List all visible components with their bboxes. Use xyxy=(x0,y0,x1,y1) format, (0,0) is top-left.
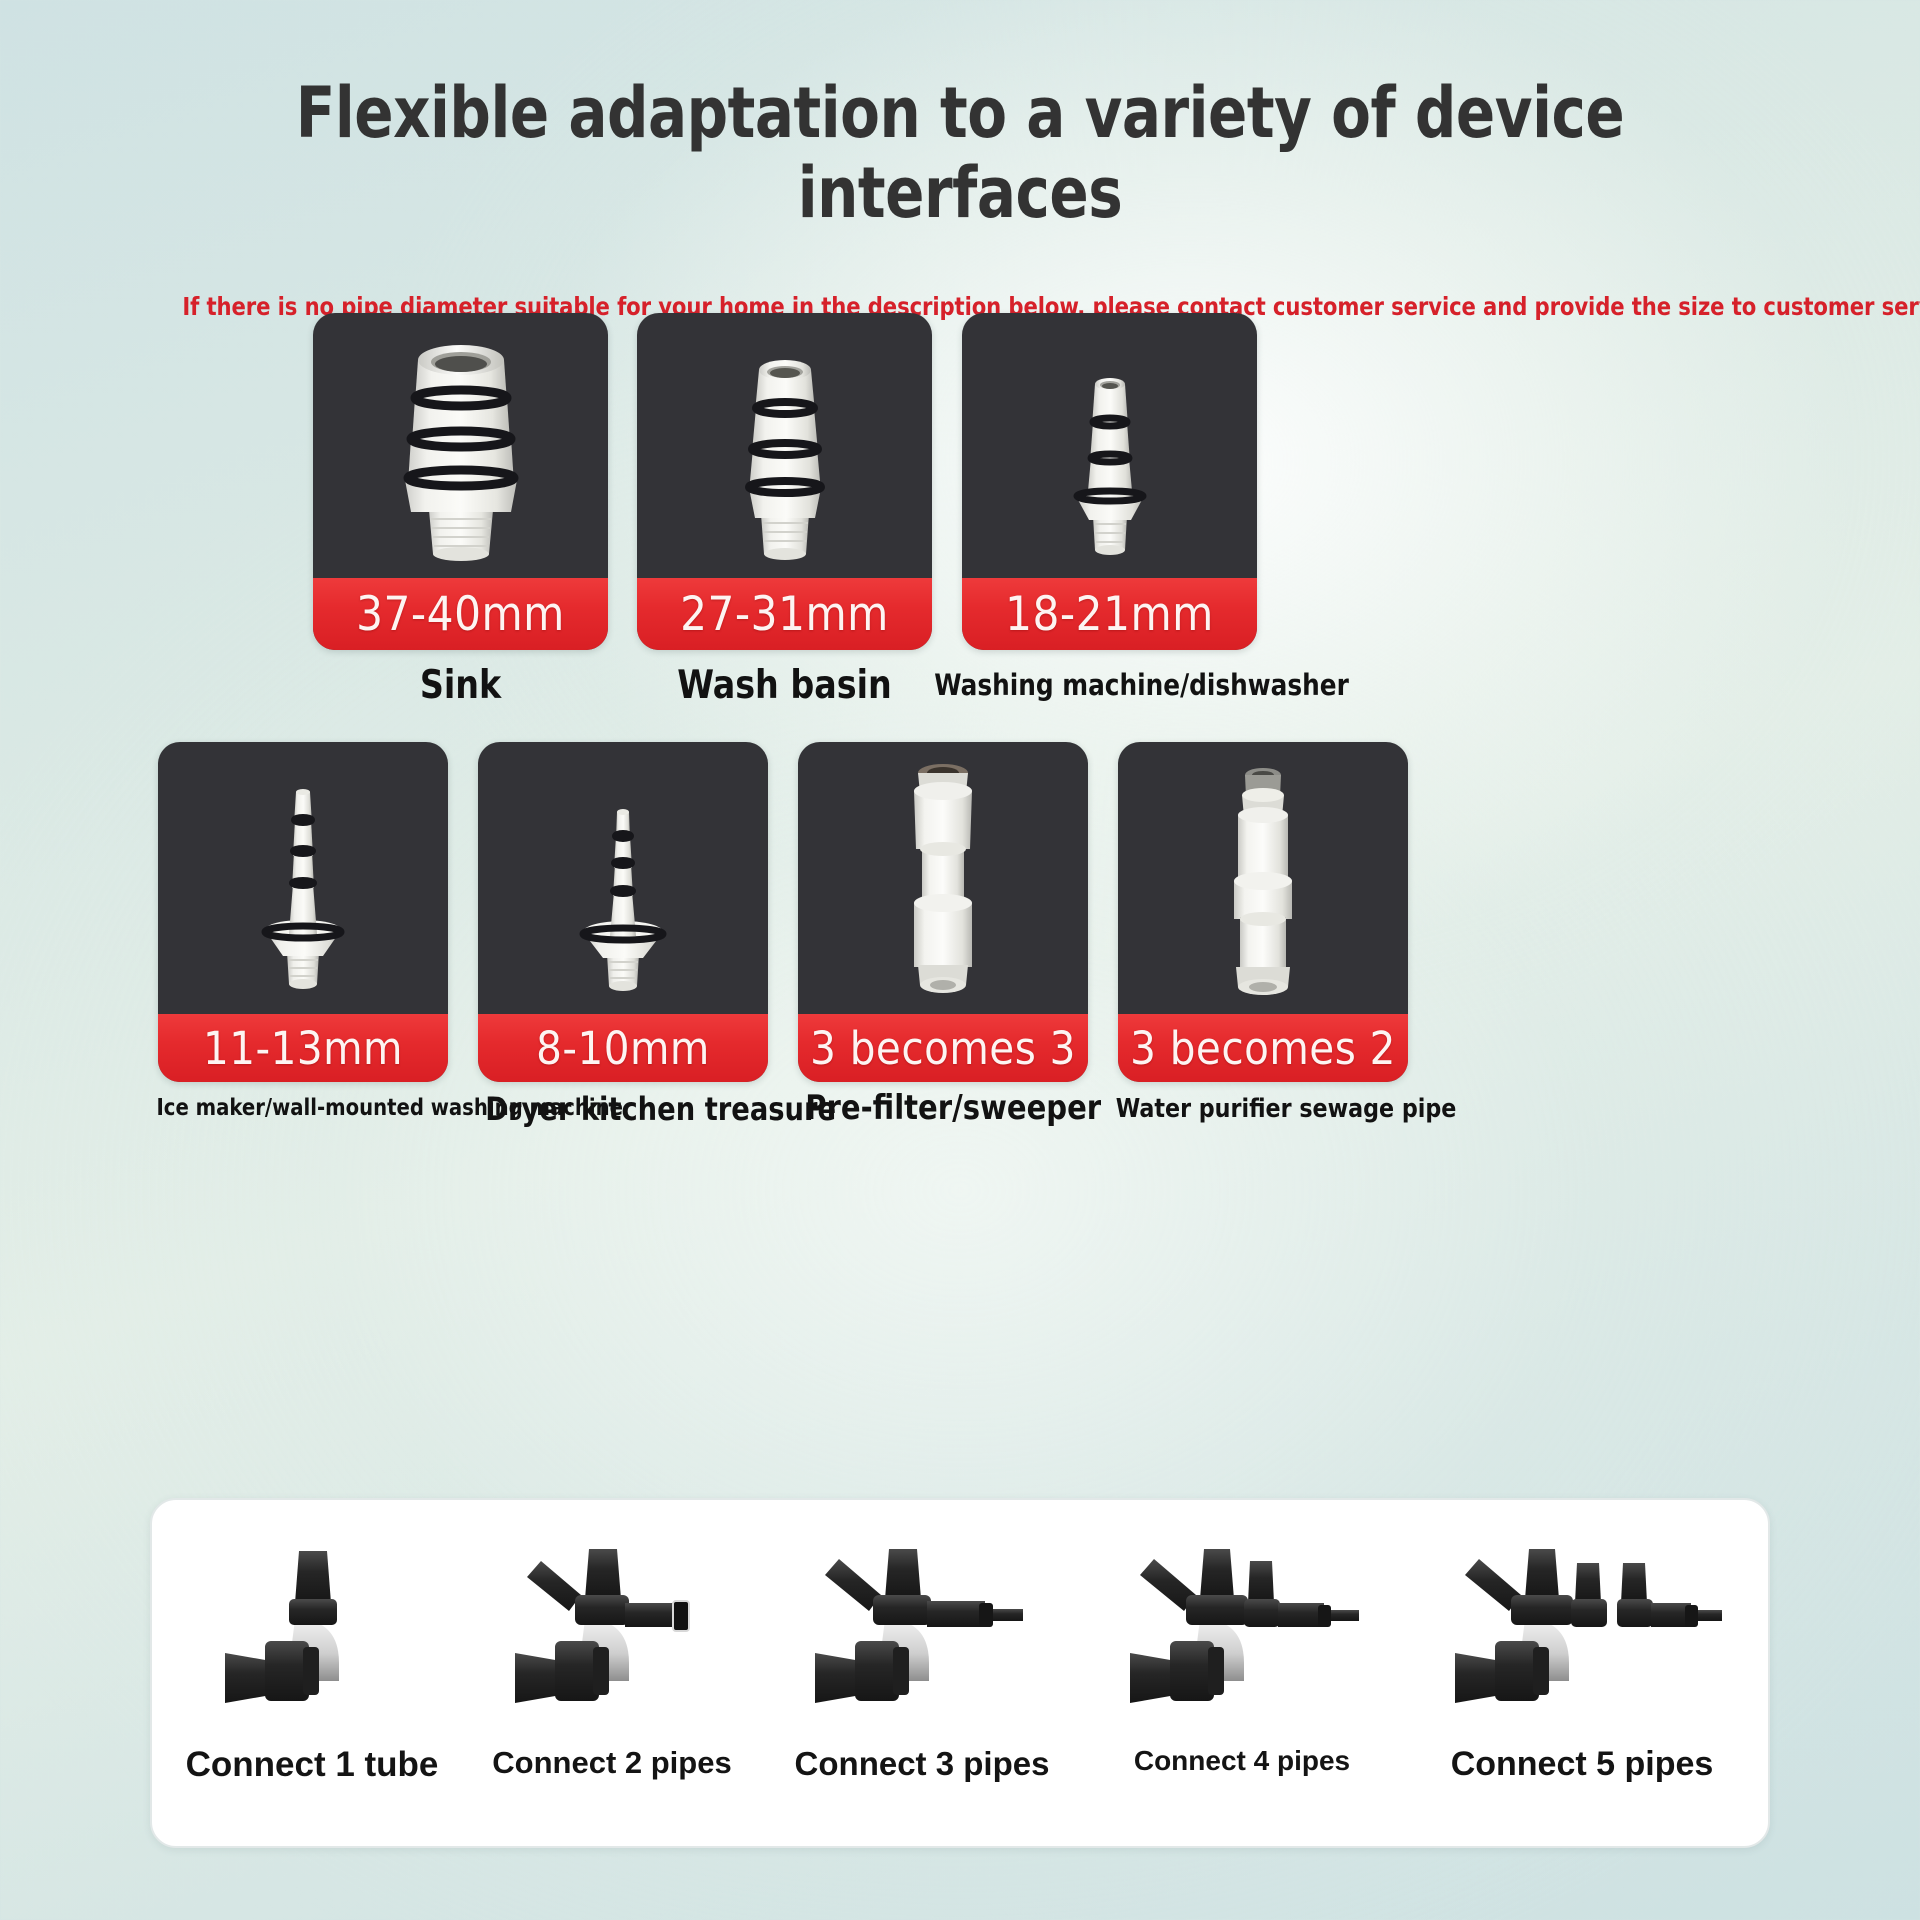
card-image-area xyxy=(1118,742,1408,1014)
manifold-4-icon xyxy=(1112,1541,1372,1726)
hose-adapter-extra-thin-icon xyxy=(553,756,693,1001)
size-banner: 18-21mm xyxy=(962,578,1257,650)
manifold-2-icon xyxy=(497,1541,727,1726)
manifold-figure xyxy=(1082,1526,1402,1726)
connect-option-5[interactable]: Connect 5 pipes xyxy=(1402,1500,1762,1846)
size-banner: 11-13mm xyxy=(158,1014,448,1082)
card-image-area xyxy=(962,313,1257,578)
caption-dryer: Dryer kitchen treasure xyxy=(485,1090,761,1128)
product-card-washing-machine[interactable]: 18-21mm xyxy=(962,313,1257,650)
size-banner: 37-40mm xyxy=(313,578,608,650)
manifold-figure xyxy=(1402,1526,1762,1726)
manifold-figure xyxy=(462,1526,762,1726)
size-banner: 8-10mm xyxy=(478,1014,768,1082)
size-banner: 3 becomes 3 xyxy=(798,1014,1088,1082)
reducer-coupler-icon xyxy=(1198,753,1328,1003)
connect-label: Connect 1 tube xyxy=(162,1745,462,1785)
card-image-area xyxy=(798,742,1088,1014)
caption-ice-maker: Ice maker/wall-mounted washing machine xyxy=(157,1095,480,1121)
card-image-area xyxy=(313,313,608,578)
connect-option-3[interactable]: Connect 3 pipes xyxy=(762,1500,1082,1846)
page-title-line-1: Flexible adaptation to a variety of devi… xyxy=(242,78,1677,148)
size-banner: 3 becomes 2 xyxy=(1118,1014,1408,1082)
caption-pre-filter: Pre-filter/sweeper xyxy=(805,1088,1081,1128)
product-card-pre-filter[interactable]: 3 becomes 3 xyxy=(798,742,1088,1082)
product-card-wash-basin[interactable]: 27-31mm xyxy=(637,313,932,650)
product-card-sink[interactable]: 37-40mm xyxy=(313,313,608,650)
size-label: 27-31mm xyxy=(680,587,889,642)
manifold-figure xyxy=(762,1526,1082,1726)
connect-label: Connect 3 pipes xyxy=(762,1745,1082,1783)
connect-option-1[interactable]: Connect 1 tube xyxy=(162,1500,462,1846)
caption-wash-basin: Wash basin xyxy=(644,663,924,708)
product-card-water-purifier[interactable]: 3 becomes 2 xyxy=(1118,742,1408,1082)
product-card-dryer[interactable]: 8-10mm xyxy=(478,742,768,1082)
product-card-ice-maker[interactable]: 11-13mm xyxy=(158,742,448,1082)
connect-option-4[interactable]: Connect 4 pipes xyxy=(1082,1500,1402,1846)
page-title-line-2: interfaces xyxy=(242,158,1677,228)
caption-washing-machine: Washing machine/dishwasher xyxy=(934,668,1286,702)
size-label: 37-40mm xyxy=(356,587,565,642)
manifold-1-icon xyxy=(207,1541,417,1726)
size-label: 18-21mm xyxy=(1005,587,1214,642)
card-image-area xyxy=(158,742,448,1014)
infographic-page: Flexible adaptation to a variety of devi… xyxy=(0,0,1920,1920)
card-image-area xyxy=(637,313,932,578)
hose-adapter-large-icon xyxy=(371,328,551,563)
manifold-5-icon xyxy=(1437,1541,1727,1726)
caption-water-purifier: Water purifier sewage pipe xyxy=(1116,1094,1411,1124)
connect-label: Connect 4 pipes xyxy=(1082,1745,1402,1777)
connect-label: Connect 2 pipes xyxy=(462,1745,762,1781)
size-label: 3 becomes 2 xyxy=(1130,1022,1396,1075)
connect-label: Connect 5 pipes xyxy=(1402,1745,1762,1784)
size-label: 8-10mm xyxy=(536,1022,710,1075)
hose-adapter-medium-icon xyxy=(705,328,865,563)
hose-adapter-thin-icon xyxy=(233,756,373,1001)
hose-adapter-small-icon xyxy=(1035,328,1185,563)
connect-option-2[interactable]: Connect 2 pipes xyxy=(462,1500,762,1846)
card-image-area xyxy=(478,742,768,1014)
page-title: Flexible adaptation to a variety of devi… xyxy=(242,78,1677,228)
manifold-3-icon xyxy=(797,1541,1047,1726)
connect-options-panel: Connect 1 tube Connect 2 pipes xyxy=(150,1498,1770,1848)
caption-sink: Sink xyxy=(320,663,600,708)
size-label: 3 becomes 3 xyxy=(810,1022,1076,1075)
manifold-figure xyxy=(162,1526,462,1726)
straight-coupler-icon xyxy=(878,753,1008,1003)
size-banner: 27-31mm xyxy=(637,578,932,650)
size-label: 11-13mm xyxy=(203,1022,403,1075)
